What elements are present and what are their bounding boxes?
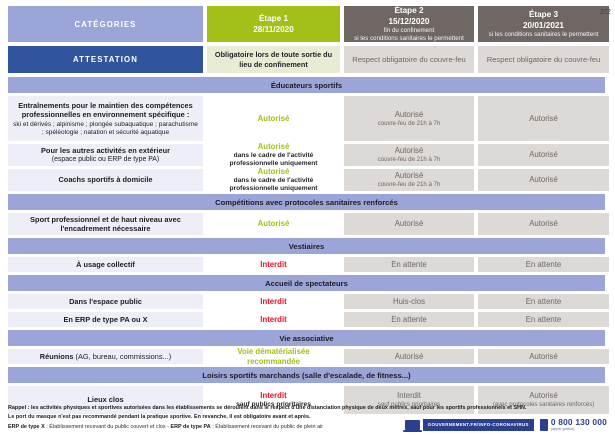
cell-status-text: En attente <box>391 315 427 325</box>
row-label-cell: À usage collectif <box>8 257 203 272</box>
page-indicator: 2/2 <box>600 7 611 16</box>
cell-step1: Autorisédans le cadre de l'activité prof… <box>207 169 340 191</box>
footer: Rappel : les activités physiques et spor… <box>8 404 607 432</box>
cell-status-text: En attente <box>391 260 427 270</box>
cell-status-text: Interdit <box>260 391 286 401</box>
step3-date: 20/01/2021 <box>523 21 564 31</box>
attestation-label: ATTESTATION <box>8 46 203 73</box>
cell-status-text: Interdit <box>260 297 286 307</box>
infographic-page: 2/2 CATÉGORIES Étape 1 28/11/2020 Étape … <box>0 0 615 435</box>
row-label-text: Dans l'espace public <box>69 297 142 306</box>
cell-step3: Autorisé <box>478 349 609 364</box>
cell-step3: Autorisé <box>478 213 609 235</box>
row-sublabel-text: (espace public ou ERP de type PA) <box>52 156 159 164</box>
row-label-cell: Entraînements pour le maintien des compé… <box>8 96 203 141</box>
row-label-text: Coachs sportifs à domicile <box>58 175 152 184</box>
attestation-step3: Respect obligatoire du couvre-feu <box>478 46 609 73</box>
row-label-text: Sport professionnel et de haut niveau av… <box>12 215 199 234</box>
cell-status-text: Autorisé <box>395 146 424 156</box>
footer-rappel-label: Rappel : <box>8 405 29 411</box>
header-step-1: Étape 1 28/11/2020 <box>207 6 340 42</box>
cell-step2: En attente <box>344 312 474 327</box>
gov-url-badge[interactable]: GOUVERNEMENT.FR/INFO-CORONAVIRUS <box>423 419 534 431</box>
header-step-2: Étape 2 15/12/2020 fin du confinement si… <box>344 6 474 42</box>
cell-status-text: Autorisé <box>529 114 558 124</box>
cell-status-text: En attente <box>526 297 562 307</box>
table-row: Réunions (AG, bureau, commissions...)Voi… <box>8 349 605 364</box>
table-row: Pour les autres activités en extérieur(e… <box>8 144 605 166</box>
step1-title: Étape 1 <box>259 14 288 24</box>
cell-step3: En attente <box>478 294 609 309</box>
cell-status-text: Autorisé <box>395 171 424 181</box>
row-label-cell: Réunions (AG, bureau, commissions...) <box>8 349 203 364</box>
row-label-text: À usage collectif <box>76 260 135 269</box>
step2-note: fin du confinement <box>384 27 435 34</box>
table-row: Entraînements pour le maintien des compé… <box>8 96 605 141</box>
cell-step1: Autorisé <box>207 96 340 141</box>
row-label-cell: Dans l'espace public <box>8 294 203 309</box>
section-band: Vie associative <box>8 330 605 346</box>
phone-block: 0 800 130 000 (appel gratuit) <box>551 418 607 431</box>
cell-status-text: Autorisé <box>529 391 558 401</box>
section-band: Éducateurs sportifs <box>8 77 605 93</box>
cell-status-text: En attente <box>526 260 562 270</box>
cell-status-text: En attente <box>526 315 562 325</box>
cell-step3: Autorisé <box>478 144 609 166</box>
footer-erp-x-label: ERP de type X <box>8 424 45 430</box>
cell-step3: En attente <box>478 312 609 327</box>
cell-step3: En attente <box>478 257 609 272</box>
section-band: Vestiaires <box>8 238 605 254</box>
row-label-cell: Pour les autres activités en extérieur(e… <box>8 144 203 166</box>
footer-line-2-text: Le port du masque n'est pas recommandé p… <box>8 414 311 420</box>
step2-note2: si les conditions sanitaires le permette… <box>354 35 464 42</box>
cell-step2: Autorisé <box>344 349 474 364</box>
row-label-text: Réunions (AG, bureau, commissions...) <box>40 352 171 361</box>
cell-step3: Autorisé <box>478 96 609 141</box>
cell-step2: Autorisécouvre-feu de 21h à 7h <box>344 144 474 166</box>
cell-status-text: Autorisé <box>258 167 290 177</box>
cell-step1: Autorisédans le cadre de l'activité prof… <box>207 144 340 166</box>
attestation-step2: Respect obligatoire du couvre-feu <box>344 46 474 73</box>
footer-erp-pa-text: : Établissement recevant du public de pl… <box>211 424 323 430</box>
table-header-row: CATÉGORIES Étape 1 28/11/2020 Étape 2 15… <box>8 6 605 42</box>
section-band: Loisirs sportifs marchands (salle d'esca… <box>8 367 605 383</box>
footer-erp-pa-label: ERP de type PA <box>170 424 210 430</box>
cell-status-text: Autorisé <box>529 150 558 160</box>
header-categories: CATÉGORIES <box>8 6 203 42</box>
cell-note-text: couvre-feu de 21h à 7h <box>378 120 441 127</box>
phone-icon <box>540 419 548 431</box>
cell-step1: Interdit <box>207 257 340 272</box>
cell-status-text: Autorisé <box>395 219 424 229</box>
phone-subtext: (appel gratuit) <box>551 427 607 431</box>
cell-step2: Autorisécouvre-feu de 21h à 7h <box>344 96 474 141</box>
row-label-cell: Sport professionnel et de haut niveau av… <box>8 213 203 235</box>
cell-step1: Interdit <box>207 312 340 327</box>
cell-note-text: couvre-feu de 21h à 7h <box>378 181 441 188</box>
header-step-3: Étape 3 20/01/2021 si les conditions san… <box>478 6 609 42</box>
cell-status-text: Interdit <box>260 260 286 270</box>
cell-status-text: Interdit <box>260 315 286 325</box>
row-sublabel-text: ski et dérivés ; alpinisme ; plongée sub… <box>12 121 199 137</box>
phone-number: 0 800 130 000 <box>551 418 607 426</box>
row-label-cell: Coachs sportifs à domicile <box>8 169 203 191</box>
cell-step3: Autorisé <box>478 169 609 191</box>
row-label-text: Pour les autres activités en extérieur <box>41 146 170 155</box>
table-row: Dans l'espace publicInterditHuis-closEn … <box>8 294 605 309</box>
section-band: Accueil de spectateurs <box>8 275 605 291</box>
cell-status-text: Autorisé <box>529 352 558 362</box>
cell-step2: En attente <box>344 257 474 272</box>
cell-status-text: Voie dématérialisée recommandée <box>211 347 336 366</box>
table-row: En ERP de type PA ou XInterditEn attente… <box>8 312 605 327</box>
cell-status-text: Autorisé <box>395 352 424 362</box>
cell-status-text: Autorisé <box>395 110 424 120</box>
cell-status-text: Autorisé <box>258 114 290 124</box>
cell-step2: Autorisécouvre-feu de 21h à 7h <box>344 169 474 191</box>
step2-date: 15/12/2020 <box>389 17 430 27</box>
step2-title: Étape 2 <box>394 6 423 16</box>
table-row: Sport professionnel et de haut niveau av… <box>8 213 605 235</box>
cell-status-text: Huis-clos <box>393 297 425 307</box>
attestation-step1: Obligatoire lors de toute sortie du lieu… <box>207 46 340 73</box>
row-label-cell: En ERP de type PA ou X <box>8 312 203 327</box>
cell-status-text: Interdit <box>397 391 421 401</box>
attestation-row: ATTESTATION Obligatoire lors de toute so… <box>8 46 605 73</box>
table-row: Coachs sportifs à domicileAutorisédans l… <box>8 169 605 191</box>
table-row: À usage collectifInterditEn attenteEn at… <box>8 257 605 272</box>
laptop-icon <box>405 420 420 430</box>
cell-step2: Huis-clos <box>344 294 474 309</box>
sections-container: Éducateurs sportifsEntraînements pour le… <box>8 77 607 414</box>
cell-status-text: Autorisé <box>258 142 290 152</box>
cell-status-text: Autorisé <box>529 219 558 229</box>
cell-step1: Voie dématérialisée recommandée <box>207 349 340 364</box>
row-label-text: En ERP de type PA ou X <box>63 315 147 324</box>
cell-status-text: Autorisé <box>529 175 558 185</box>
footer-line-1: Rappel : les activités physiques et spor… <box>8 404 607 413</box>
cell-status-text: Autorisé <box>258 219 290 229</box>
cell-note-text: dans le cadre de l'activité professionne… <box>211 177 336 193</box>
footer-erp-x-text: : Établissement recevant du public couve… <box>45 424 171 430</box>
step1-date: 28/11/2020 <box>253 25 294 35</box>
section-band: Compétitions avec protocoles sanitaires … <box>8 194 605 210</box>
row-label-text: Entraînements pour le maintien des compé… <box>12 101 199 120</box>
cell-step1: Interdit <box>207 294 340 309</box>
gov-brand-block: GOUVERNEMENT.FR/INFO-CORONAVIRUS 0 800 1… <box>405 418 607 431</box>
step3-title: Étape 3 <box>529 10 558 20</box>
step3-note: si les conditions sanitaires le permette… <box>489 31 599 38</box>
footer-line-1-text: les activités physiques et sportives aut… <box>31 405 527 411</box>
cell-note-text: dans le cadre de l'activité professionne… <box>211 152 336 168</box>
cell-step1: Autorisé <box>207 213 340 235</box>
cell-note-text: couvre-feu de 21h à 7h <box>378 156 441 163</box>
cell-step2: Autorisé <box>344 213 474 235</box>
